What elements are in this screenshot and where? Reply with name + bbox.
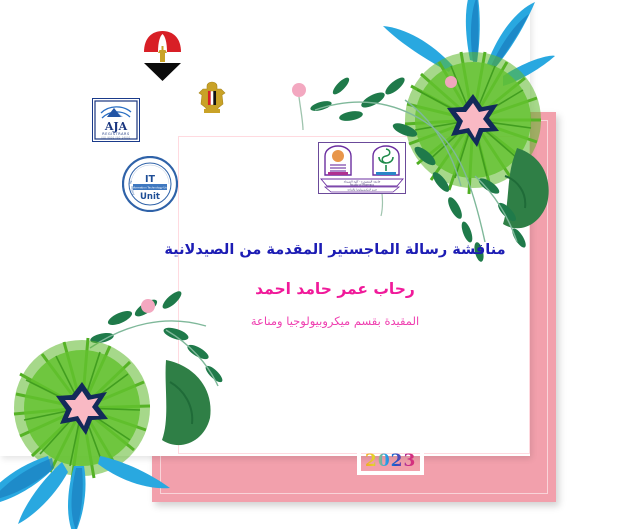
announcement-title: مناقشة رسالة الماجستير المقدمة من الصيدل… xyxy=(150,240,520,262)
svg-text:ISO 9001 ISO 14001: ISO 9001 ISO 14001 xyxy=(101,137,131,140)
department-line: المقيدة بقسم ميكروبيولوجيا ومناعة xyxy=(150,313,520,330)
year-badge: 2023 xyxy=(360,450,421,472)
it-unit-seal-icon: وحدة تكنولوجيا المعلومات بالكلية IT Info… xyxy=(122,156,178,212)
svg-text:Information Technology Unit: Information Technology Unit xyxy=(131,185,169,189)
egypt-flag-ribbon-icon xyxy=(140,28,185,83)
poster-canvas: AJA REGISTRARS ISO 9001 ISO 14001 وحدة ت… xyxy=(0,0,643,529)
svg-text:REGISTRARS: REGISTRARS xyxy=(102,132,129,136)
svg-text:IT: IT xyxy=(145,174,156,185)
svg-text:Faculty of Pharmacy: Faculty of Pharmacy xyxy=(350,184,375,187)
announcement-text-block: مناقشة رسالة الماجستير المقدمة من الصيدل… xyxy=(150,240,520,330)
faculty-of-pharmacy-logo-icon: جامعة المنصورة - كلية الصيدلة Faculty of… xyxy=(318,142,406,194)
eagle-of-saladin-emblem-icon xyxy=(196,80,228,116)
svg-text:قسم الميكروبيولوجيا والمناعة: قسم الميكروبيولوجيا والمناعة xyxy=(347,189,376,192)
aja-registrars-logo-icon: AJA REGISTRARS ISO 9001 ISO 14001 xyxy=(92,98,140,142)
poster-inner-white-panel xyxy=(0,0,530,456)
student-name: رحاب عمر حامد احمد xyxy=(150,278,520,301)
svg-text:Unit: Unit xyxy=(140,192,160,202)
